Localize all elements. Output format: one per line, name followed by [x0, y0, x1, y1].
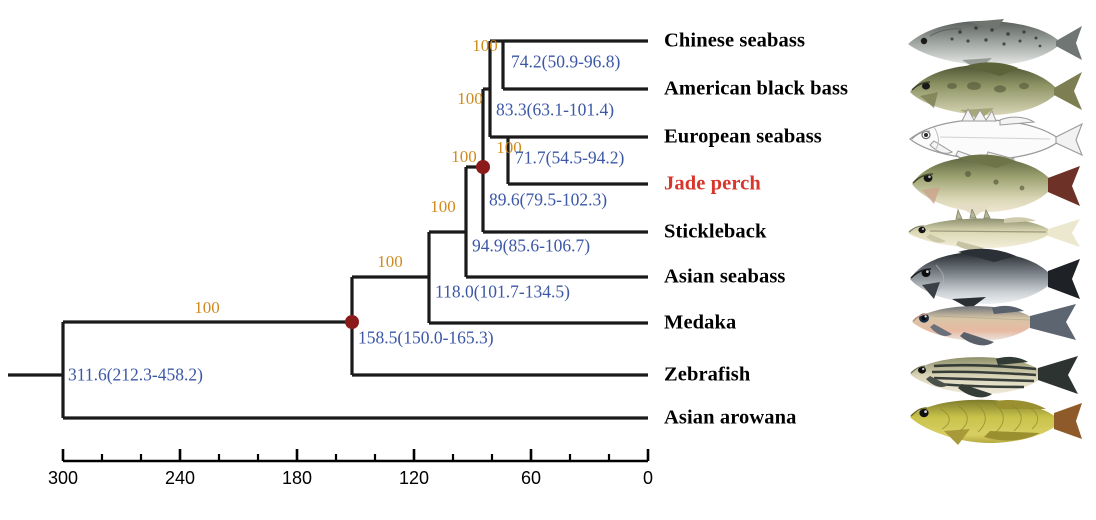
age-label-percomorph: 118.0(101.7-134.5) — [435, 282, 570, 303]
support-value-stickleback-node: 100 — [430, 197, 456, 217]
age-label-bass-clade: 83.3(63.1-101.4) — [496, 100, 614, 121]
age-label-moronid: 89.6(79.5-102.3) — [489, 190, 607, 211]
axis-tick-label-180: 180 — [282, 468, 312, 489]
support-value-moronid: 100 — [451, 147, 477, 167]
support-value-teleost: 100 — [194, 298, 220, 318]
axis-tick-label-240: 240 — [165, 468, 195, 489]
age-label-chinese-american: 74.2(50.9-96.8) — [511, 52, 620, 73]
axis-tick-label-60: 60 — [521, 468, 541, 489]
age-label-european-jade: 71.7(54.5-94.2) — [515, 148, 624, 169]
axis-tick-label-120: 120 — [399, 468, 429, 489]
age-label-root: 311.6(212.3-458.2) — [68, 365, 203, 386]
support-value-percomorph: 100 — [377, 252, 403, 272]
node-dot-teleost — [345, 315, 359, 329]
tip-label-medaka: Medaka — [664, 312, 736, 335]
fish-image-medaka — [900, 294, 1086, 352]
axis-tick-label-300: 300 — [48, 468, 78, 489]
axis-tick-label-0: 0 — [643, 468, 653, 489]
tip-label-stickleback: Stickleback — [664, 221, 766, 244]
tip-label-american-black-bass: American black bass — [664, 78, 848, 101]
tip-label-zebrafish: Zebrafish — [664, 364, 750, 387]
age-label-teleost: 158.5(150.0-165.3) — [358, 328, 494, 349]
tip-label-chinese-seabass: Chinese seabass — [664, 30, 805, 53]
tip-label-jade-perch: Jade perch — [664, 173, 761, 196]
node-dot-moronid — [476, 160, 490, 174]
support-value-chinese-american: 100 — [472, 36, 498, 56]
fish-image-asian-arowana — [900, 387, 1086, 449]
phylogenetic-tree-figure: Chinese seabass American black bass Euro… — [0, 0, 1096, 520]
tip-label-asian-arowana: Asian arowana — [664, 407, 797, 430]
time-axis — [63, 449, 648, 461]
tip-label-asian-seabass: Asian seabass — [664, 266, 786, 289]
fish-image-jade-perch — [900, 150, 1086, 218]
support-value-bass-clade: 100 — [457, 89, 483, 109]
age-label-stickleback-node: 94.9(85.6-106.7) — [472, 236, 590, 257]
tip-label-european-seabass: European seabass — [664, 126, 822, 149]
